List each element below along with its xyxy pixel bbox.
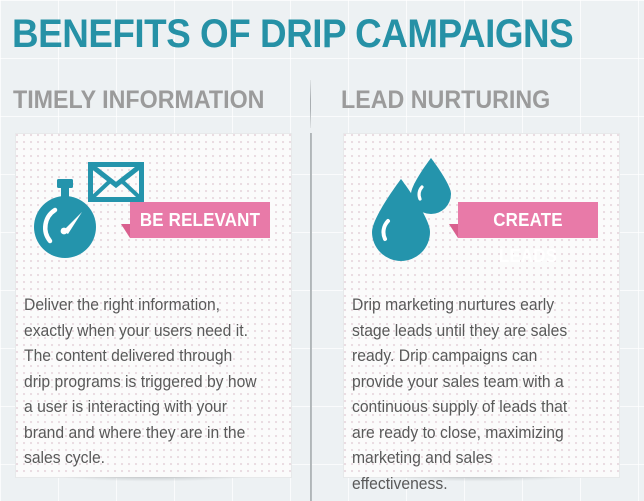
body-text-timely-information: Deliver the right information, exactly w… [24,293,262,472]
ribbon-fold [449,224,458,238]
ribbon-be-relevant: BE RELEVANT [130,202,270,238]
page-title: BENEFITS OF DRIP CAMPAIGNS [12,12,573,56]
header-divider [310,80,311,128]
envelope-icon [88,162,144,207]
body-text-lead-nurturing: Drip marketing nurtures early stage lead… [352,293,590,497]
ribbon-create-leads: CREATE LEADS [458,202,598,238]
water-drop-small-icon [408,156,454,221]
infographic-page: BENEFITS OF DRIP CAMPAIGNS TIMELY INFORM… [0,0,644,501]
ribbon-fold [121,224,130,238]
column-heading-timely-information: TIMELY INFORMATION [13,86,264,114]
ribbon-label-create-leads: CREATE LEADS [462,202,594,238]
column-heading-lead-nurturing: LEAD NURTURING [341,86,550,114]
card-shadow [19,477,287,489]
ribbon-label-be-relevant: BE RELEVANT [134,202,266,238]
column-divider [310,133,312,501]
